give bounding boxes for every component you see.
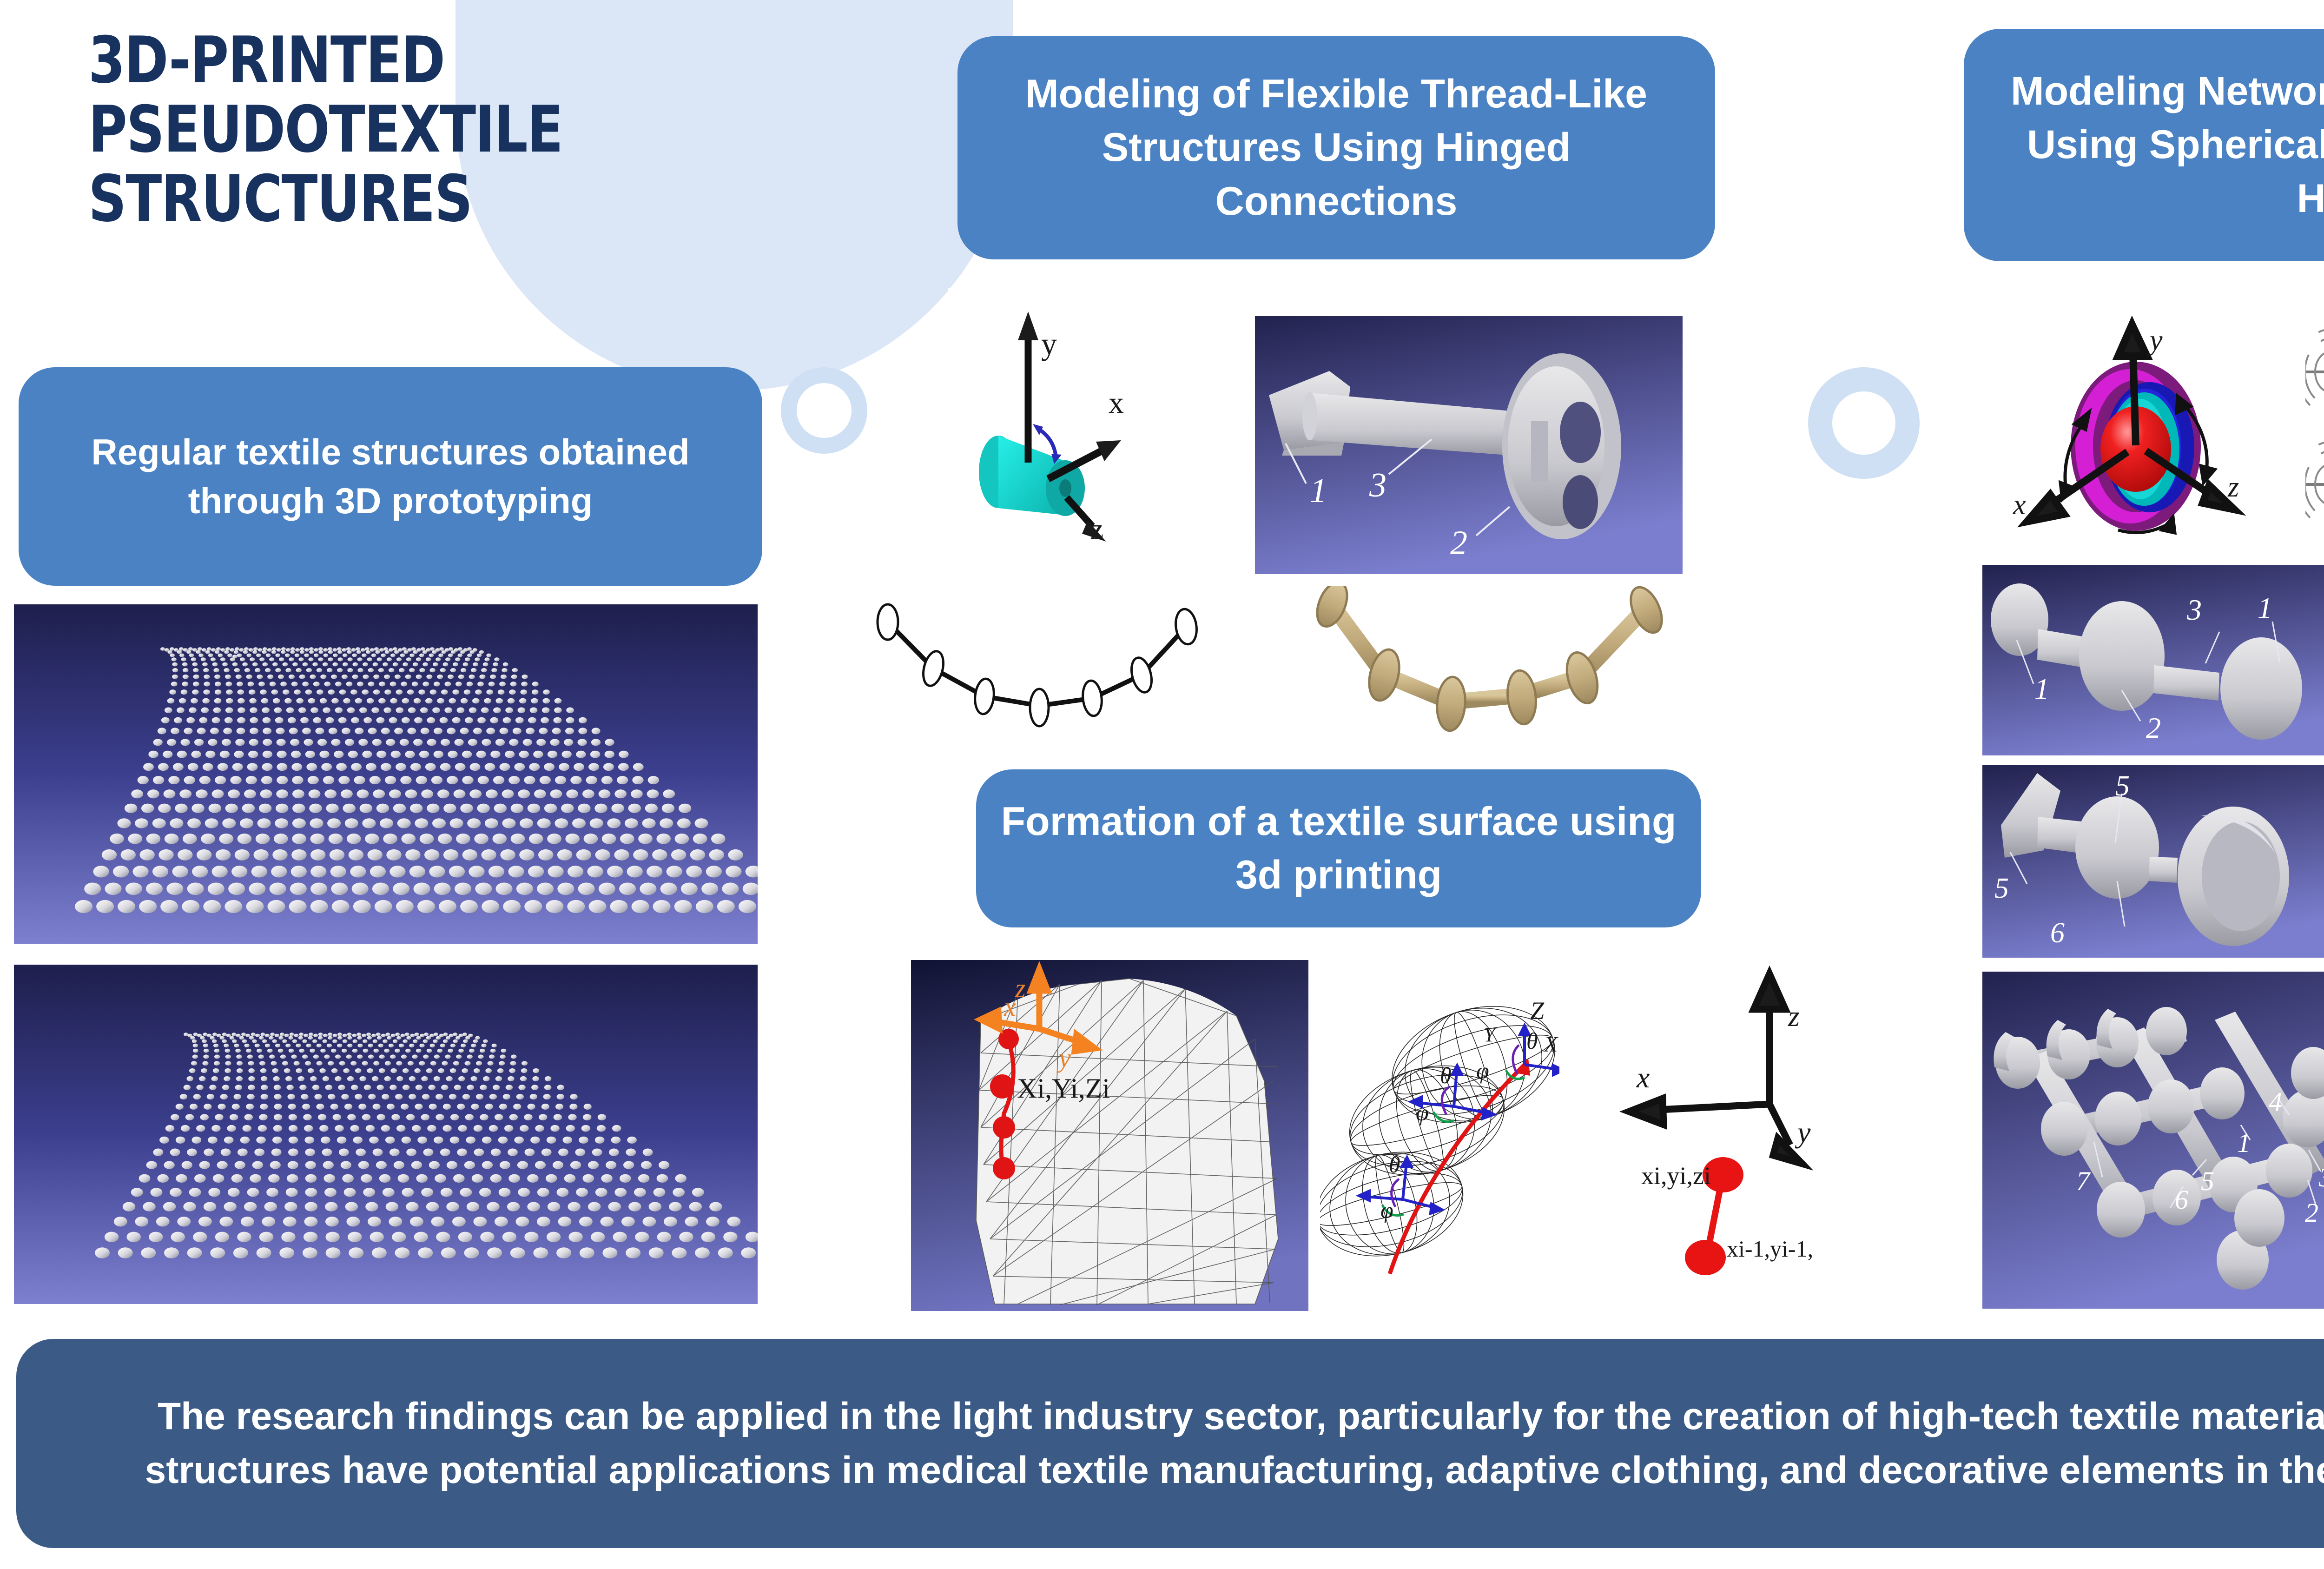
title-line-2: Pseudotextile [88, 95, 713, 164]
figure-hinged-chain-schematic [874, 590, 1283, 744]
svg-text:y: y [1041, 326, 1057, 361]
svg-text:z: z [1090, 512, 1103, 546]
svg-text:6: 6 [2050, 917, 2065, 949]
svg-text:2: 2 [1450, 524, 1467, 562]
figure-network-schematic: 6 4 1 2 7 5 3 [2305, 302, 2324, 544]
svg-text:xi,yi,zi: xi,yi,zi [1641, 1162, 1711, 1190]
figure-mannequin-mesh: x z y Xi,Yi,Zi [911, 960, 1308, 1311]
svg-text:4: 4 [2269, 1087, 2282, 1117]
figure-ball-link-render-1: 12 31 [1982, 565, 2324, 755]
axis-label-z: z [1015, 973, 1026, 1003]
middle-column-subheading: Formation of a textile surface using 3d … [976, 769, 1701, 927]
figure-pseudotextile-mesh-dense [14, 604, 758, 944]
svg-text:1: 1 [2237, 1128, 2251, 1158]
svg-text:X: X [1543, 1032, 1558, 1057]
svg-text:φ: φ [1476, 1058, 1489, 1084]
svg-text:3: 3 [2186, 593, 2202, 626]
figure-rotational-axis-cylinder: y x z [948, 288, 1236, 576]
svg-text:1: 1 [2258, 591, 2272, 624]
figure-spherical-hinge-gimbal: y x z [1996, 298, 2294, 549]
figure-networked-lattice-render: 765 143 2 [1982, 972, 2324, 1309]
middle-column-heading: Modeling of Flexible Thread-Like Structu… [957, 36, 1715, 259]
background-ring-left [781, 367, 867, 454]
svg-text:φ: φ [1416, 1099, 1429, 1125]
figure-hinged-connection-render: 1 3 2 [1255, 316, 1683, 574]
figure-wireframe-spheres-angles: Z X Y θ φ θ φ θ φ [1320, 967, 1562, 1311]
left-column-subtitle: Regular textile structures obtained thro… [19, 367, 762, 586]
svg-text:3: 3 [2318, 1162, 2324, 1192]
figure-printed-chain-photo [1301, 586, 1692, 748]
point-label: Xi,Yi,Zi [1017, 1073, 1110, 1104]
svg-text:y: y [2147, 324, 2163, 356]
svg-text:2: 2 [2146, 711, 2161, 744]
svg-text:x: x [2013, 489, 2026, 521]
svg-text:1: 1 [2034, 672, 2049, 705]
svg-text:2: 2 [2305, 1198, 2318, 1228]
svg-text:xi-1,yi-1,zi-1: xi-1,yi-1,zi-1 [1727, 1236, 1813, 1262]
svg-text:y: y [1795, 1116, 1811, 1149]
svg-text:x: x [1636, 1061, 1650, 1094]
svg-text:6: 6 [2175, 1185, 2188, 1215]
svg-text:θ: θ [1526, 1028, 1538, 1054]
title-line-1: 3D-Printed [88, 26, 713, 95]
svg-text:φ: φ [1380, 1197, 1393, 1223]
svg-text:7: 7 [2076, 1166, 2091, 1196]
svg-text:z: z [1788, 1000, 1800, 1033]
background-blob-small [669, 0, 967, 177]
axis-label-y: y [1056, 1043, 1071, 1073]
svg-text:θ: θ [1389, 1152, 1400, 1178]
page-title: 3D-Printed Pseudotextile Structures [88, 26, 713, 233]
svg-text:5: 5 [2201, 1166, 2214, 1196]
figure-ball-socket-render-3: 565 [1982, 765, 2324, 958]
svg-text:θ: θ [1440, 1062, 1452, 1088]
background-ring-right [1808, 367, 1920, 479]
svg-text:z: z [2227, 471, 2239, 503]
svg-text:x: x [1109, 386, 1124, 420]
title-line-3: Structures [88, 164, 713, 233]
right-column-heading: Modeling Networked Textile Surfaces Usin… [1964, 29, 2324, 261]
svg-text:5: 5 [2115, 770, 2130, 802]
figure-coordinate-link-nodes: z x y xi,yi,zi xi-1,yi-1,zi-1 [1559, 965, 1813, 1311]
figure-pseudotextile-mesh-flat [14, 965, 758, 1304]
svg-text:1: 1 [1310, 472, 1327, 510]
svg-text:5: 5 [1994, 873, 2009, 904]
svg-text:3: 3 [1369, 466, 1386, 504]
conclusion-banner: The research findings can be applied in … [16, 1339, 2324, 1548]
axis-label-x: x [1004, 992, 1016, 1022]
svg-text:Z: Z [1530, 997, 1545, 1025]
